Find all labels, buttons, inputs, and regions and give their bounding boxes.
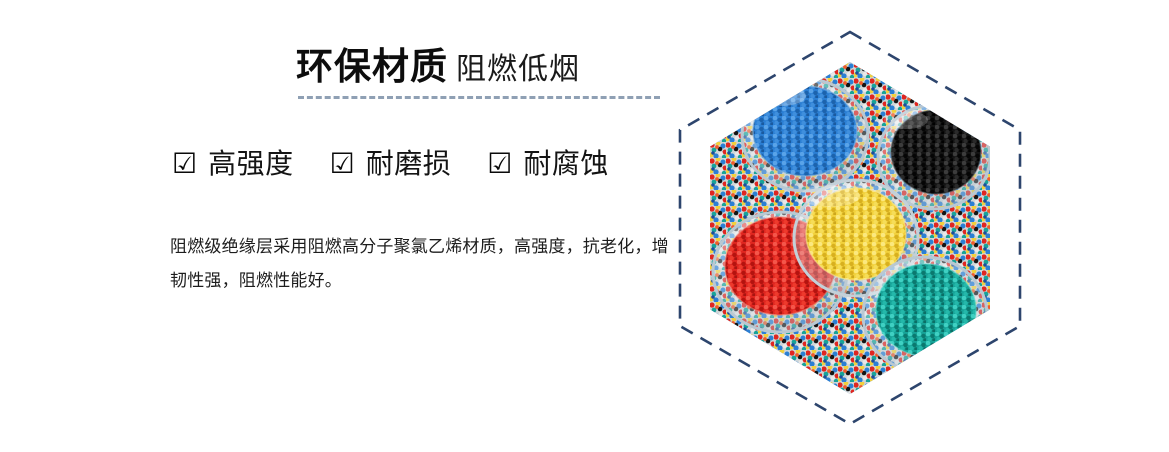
checked-box-icon: ☑ — [487, 150, 512, 178]
page-title: 环保材质阻燃低烟 — [296, 48, 666, 85]
hexagon-graphic — [676, 28, 1024, 428]
feature-label: 耐磨损 — [366, 150, 452, 178]
heading-block: 环保材质阻燃低烟 — [296, 48, 666, 99]
title-divider — [298, 96, 660, 99]
feature-label: 耐腐蚀 — [523, 150, 609, 178]
feature-item-strength: ☑ 高强度 — [172, 150, 294, 178]
checked-box-icon: ☑ — [330, 150, 355, 178]
feature-list: ☑ 高强度 ☑ 耐磨损 ☑ 耐腐蚀 — [172, 150, 609, 178]
feature-label: 高强度 — [208, 150, 294, 178]
text-column: 环保材质阻燃低烟 ☑ 高强度 ☑ 耐磨损 ☑ 耐腐蚀 阻燃级绝缘层采用阻燃高分子… — [0, 0, 680, 452]
page-title-sub: 阻燃低烟 — [456, 52, 580, 87]
feature-item-wear-resistant: ☑ 耐磨损 — [330, 150, 452, 178]
feature-item-corrosion-resistant: ☑ 耐腐蚀 — [487, 150, 609, 178]
checked-box-icon: ☑ — [172, 150, 197, 178]
page-title-main: 环保材质 — [296, 45, 448, 88]
promo-banner: 环保材质阻燃低烟 ☑ 高强度 ☑ 耐磨损 ☑ 耐腐蚀 阻燃级绝缘层采用阻燃高分子… — [0, 0, 1169, 452]
body-paragraph: 阻燃级绝缘层采用阻燃高分子聚氯乙烯材质，高强度，抗老化，增韧性强，阻燃性能好。 — [170, 230, 670, 298]
